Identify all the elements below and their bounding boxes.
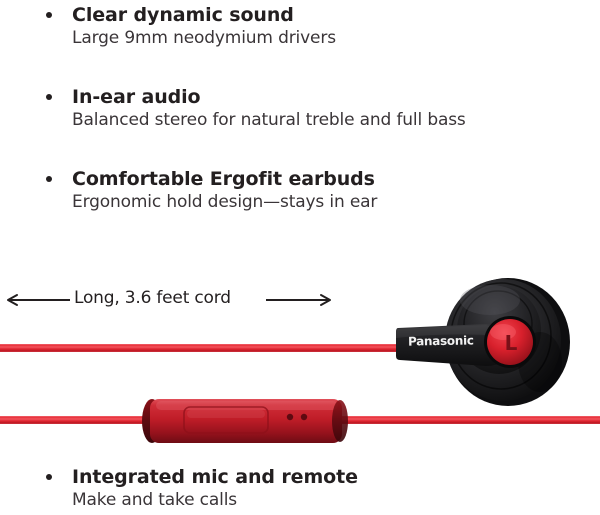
bullet-dot-icon [46, 176, 52, 182]
feature-heading: Comfortable Ergofit earbuds [72, 168, 375, 190]
bullet-dot-icon [46, 474, 52, 480]
remote-top-sheen [156, 401, 338, 410]
remote-end-cap-right [332, 400, 348, 442]
mic-hole-icon [287, 414, 293, 420]
cord-length-label: Long, 3.6 feet cord [70, 288, 235, 308]
feature-heading: Clear dynamic sound [72, 4, 294, 26]
mic-hole-icon [301, 414, 307, 420]
bullet-dot-icon [46, 12, 52, 18]
earbud-highlight [460, 285, 520, 315]
product-feature-image: Clear dynamic sound Large 9mm neodymium … [0, 0, 600, 515]
inline-remote-icon [140, 393, 350, 447]
feature-subtext: Ergonomic hold design—stays in ear [72, 192, 377, 212]
panasonic-brand-logo: Panasonic [408, 333, 474, 348]
feature-heading: Integrated mic and remote [72, 466, 358, 488]
feature-heading: In-ear audio [72, 86, 201, 108]
bullet-dot-icon [46, 94, 52, 100]
cord-length-annotation: Long, 3.6 feet cord [0, 287, 340, 313]
feature-subtext: Large 9mm neodymium drivers [72, 28, 336, 48]
remote-button-panel-gloss [187, 410, 265, 418]
cord-upper [0, 344, 406, 352]
feature-subtext: Make and take calls [72, 490, 237, 510]
earbud-channel-marking: L [505, 331, 518, 355]
earbud-icon: L Panasonic [390, 266, 585, 406]
feature-subtext: Balanced stereo for natural treble and f… [72, 110, 466, 130]
